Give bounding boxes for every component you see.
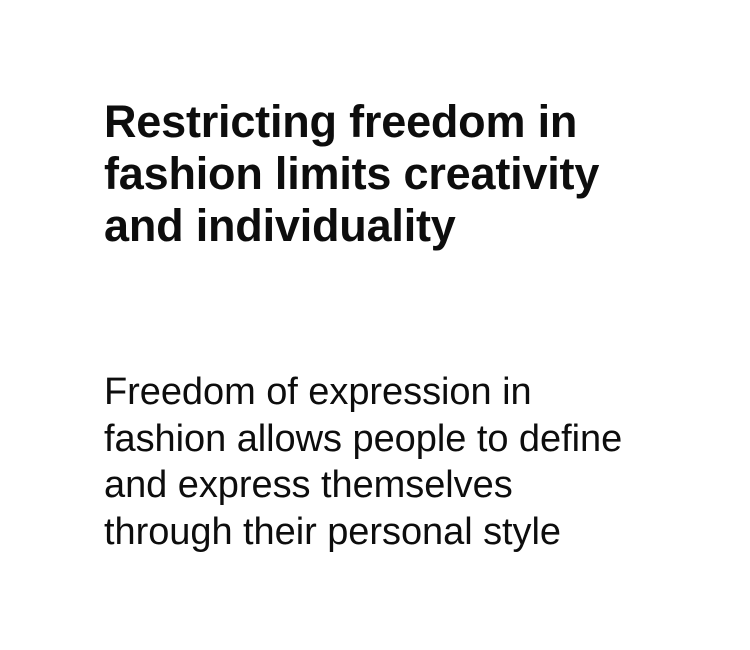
slide-canvas: Restricting freedom in fashion limits cr… (0, 0, 750, 650)
slide-content-block: Restricting freedom in fashion limits cr… (104, 96, 664, 555)
slide-headline: Restricting freedom in fashion limits cr… (104, 96, 614, 252)
slide-body-text: Freedom of expression in fashion allows … (104, 252, 649, 555)
